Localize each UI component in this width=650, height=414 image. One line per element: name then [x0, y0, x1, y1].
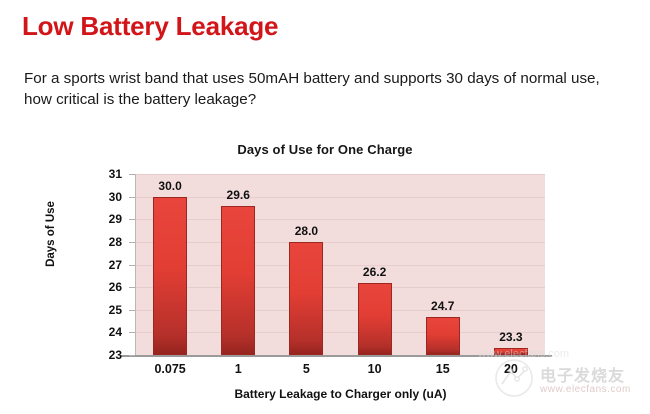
y-axis-tick: 31 — [98, 167, 122, 181]
bar[interactable] — [289, 242, 323, 355]
x-axis-title: Battery Leakage to Charger only (uA) — [136, 387, 545, 401]
x-axis-tick-label: 0.075 — [136, 362, 204, 376]
y-axis-tick: 26 — [98, 280, 122, 294]
y-axis-tick-label: 31 — [98, 167, 122, 181]
bar-series: 30.029.628.026.224.723.3 — [136, 174, 545, 355]
y-axis-tick-mark — [129, 197, 135, 198]
y-axis-tick-label: 28 — [98, 235, 122, 249]
y-axis-tick-mark — [129, 219, 135, 220]
y-axis-tick: 30 — [98, 190, 122, 204]
bar-chart: Days of Use for One Charge 30.029.628.02… — [0, 134, 650, 414]
y-axis-tick-mark — [129, 265, 135, 266]
y-axis-tick-label: 24 — [98, 325, 122, 339]
y-axis-tick-mark — [129, 332, 135, 333]
bar[interactable] — [221, 206, 255, 355]
bar-value-label: 29.6 — [227, 188, 250, 202]
y-axis-tick-mark — [129, 355, 135, 356]
y-axis-tick: 29 — [98, 212, 122, 226]
y-axis-tick-mark — [129, 287, 135, 288]
bar-value-label: 30.0 — [158, 179, 181, 193]
bar-slot: 24.7 — [409, 174, 477, 355]
slide-subtitle: For a sports wrist band that uses 50mAH … — [24, 68, 628, 110]
bar-slot: 30.0 — [136, 174, 204, 355]
y-axis-tick-label: 29 — [98, 212, 122, 226]
y-axis-tick: 27 — [98, 258, 122, 272]
chart-title: Days of Use for One Charge — [0, 142, 650, 157]
y-axis-line — [135, 174, 136, 356]
y-axis-tick-label: 23 — [98, 348, 122, 362]
bar-value-label: 28.0 — [295, 224, 318, 238]
y-axis-tick: 25 — [98, 303, 122, 317]
bar-slot: 29.6 — [204, 174, 272, 355]
y-axis-tick-label: 26 — [98, 280, 122, 294]
x-axis-tick-label: 1 — [204, 362, 272, 376]
bar-slot: 23.3 — [477, 174, 545, 355]
bar[interactable] — [426, 317, 460, 355]
y-axis-tick-mark — [129, 310, 135, 311]
page-title: Low Battery Leakage — [22, 11, 278, 42]
bar-slot: 28.0 — [272, 174, 340, 355]
bar-slot: 26.2 — [341, 174, 409, 355]
x-axis-tick-label: 10 — [341, 362, 409, 376]
x-axis-tick-label: 20 — [477, 362, 545, 376]
x-axis-tick-label: 15 — [409, 362, 477, 376]
y-axis-tick-mark — [129, 242, 135, 243]
y-axis-tick-label: 27 — [98, 258, 122, 272]
y-axis-tick-label: 25 — [98, 303, 122, 317]
bar[interactable] — [494, 348, 528, 355]
y-axis-title: Days of Use — [45, 179, 57, 289]
plot-area: 30.029.628.026.224.723.3 — [136, 174, 545, 355]
y-axis-tick: 28 — [98, 235, 122, 249]
y-axis-tick-label: 30 — [98, 190, 122, 204]
bar-value-label: 24.7 — [431, 299, 454, 313]
x-axis-line — [120, 355, 552, 357]
bar[interactable] — [358, 283, 392, 355]
x-axis-tick-label: 5 — [272, 362, 340, 376]
bar-value-label: 26.2 — [363, 265, 386, 279]
y-axis-tick: 24 — [98, 325, 122, 339]
bar[interactable] — [153, 197, 187, 355]
y-axis-tick-mark — [129, 174, 135, 175]
y-axis-tick: 23 — [98, 348, 122, 362]
bar-value-label: 23.3 — [499, 330, 522, 344]
